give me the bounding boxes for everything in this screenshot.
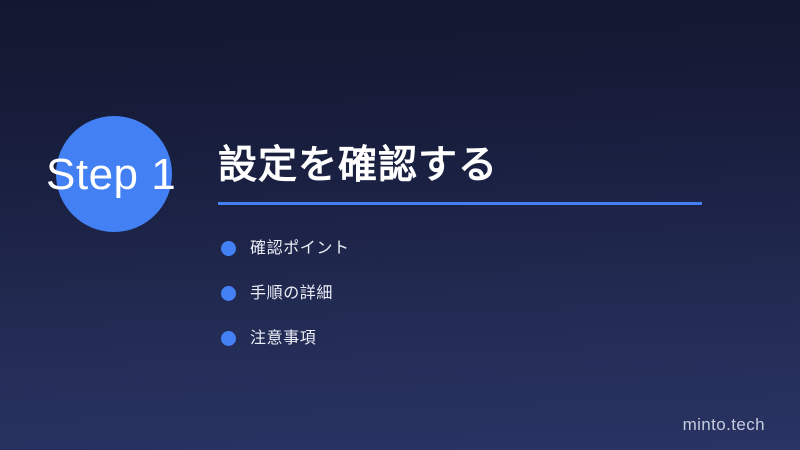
title-divider [218,202,702,205]
list-item: 手順の詳細 [221,283,741,304]
list-item: 注意事項 [221,328,741,349]
footer-watermark: minto.tech [683,414,765,436]
bullet-dot-icon [221,331,236,346]
title-block: 設定を確認する [218,140,758,205]
list-item-label: 注意事項 [250,328,316,349]
bullet-list: 確認ポイント 手順の詳細 注意事項 [221,238,741,373]
slide-title: 設定を確認する [218,140,758,192]
list-item: 確認ポイント [221,238,741,259]
presentation-slide: Step 1 設定を確認する 確認ポイント 手順の詳細 注意事項 minto.t… [0,0,800,450]
step-label: Step 1 [46,147,206,203]
step-badge: Step 1 [0,0,210,260]
bullet-dot-icon [221,241,236,256]
list-item-label: 確認ポイント [250,238,350,259]
list-item-label: 手順の詳細 [250,283,333,304]
bullet-dot-icon [221,286,236,301]
